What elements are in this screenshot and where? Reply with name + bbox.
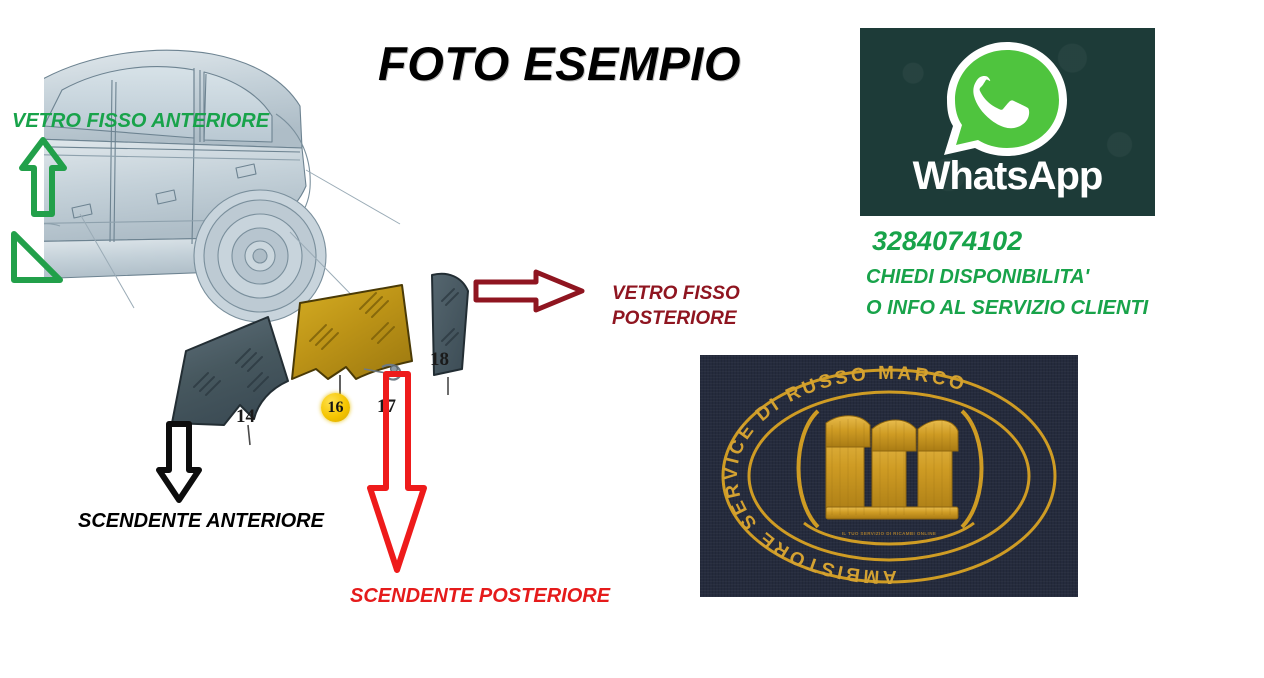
triangle-green-icon bbox=[8, 228, 66, 291]
phone-number: 3284074102 bbox=[872, 226, 1022, 257]
poster-canvas: FOTO ESEMPIO bbox=[0, 0, 1264, 678]
part-number-14: 14 bbox=[236, 406, 255, 428]
right-arrow-dark-red-icon bbox=[472, 268, 586, 319]
down-arrow-red-icon bbox=[366, 370, 428, 581]
part-number-16: 16 bbox=[321, 393, 350, 422]
label-vetro-fisso-posteriore: VETRO FISSO POSTERIORE bbox=[612, 281, 740, 331]
whatsapp-icon bbox=[912, 36, 1102, 165]
whatsapp-banner: WhatsApp bbox=[860, 28, 1155, 216]
whatsapp-wordmark: WhatsApp bbox=[860, 154, 1155, 199]
contact-line-2: O INFO AL SERVIZIO CLIENTI bbox=[866, 297, 1148, 320]
label-scendente-posteriore: SCENDENTE POSTERIORE bbox=[350, 585, 610, 608]
logo-tagline: IL TUO SERVIZIO DI RICAMBI ONLINE bbox=[700, 531, 1078, 536]
contact-line-1: CHIEDI DISPONIBILITA' bbox=[866, 266, 1089, 289]
label-vetro-fisso-anteriore: VETRO FISSO ANTERIORE bbox=[12, 110, 269, 133]
up-arrow-green-icon bbox=[18, 136, 68, 223]
part-number-18: 18 bbox=[430, 349, 449, 371]
label-scendente-anteriore: SCENDENTE ANTERIORE bbox=[78, 510, 324, 533]
company-logo: MRICAMBISTORE SERVICE DI RUSSO MARCO bbox=[700, 355, 1078, 597]
page-title: FOTO ESEMPIO bbox=[378, 36, 741, 91]
down-arrow-black-icon bbox=[155, 420, 203, 509]
part-badge-16: 16 bbox=[321, 393, 350, 422]
